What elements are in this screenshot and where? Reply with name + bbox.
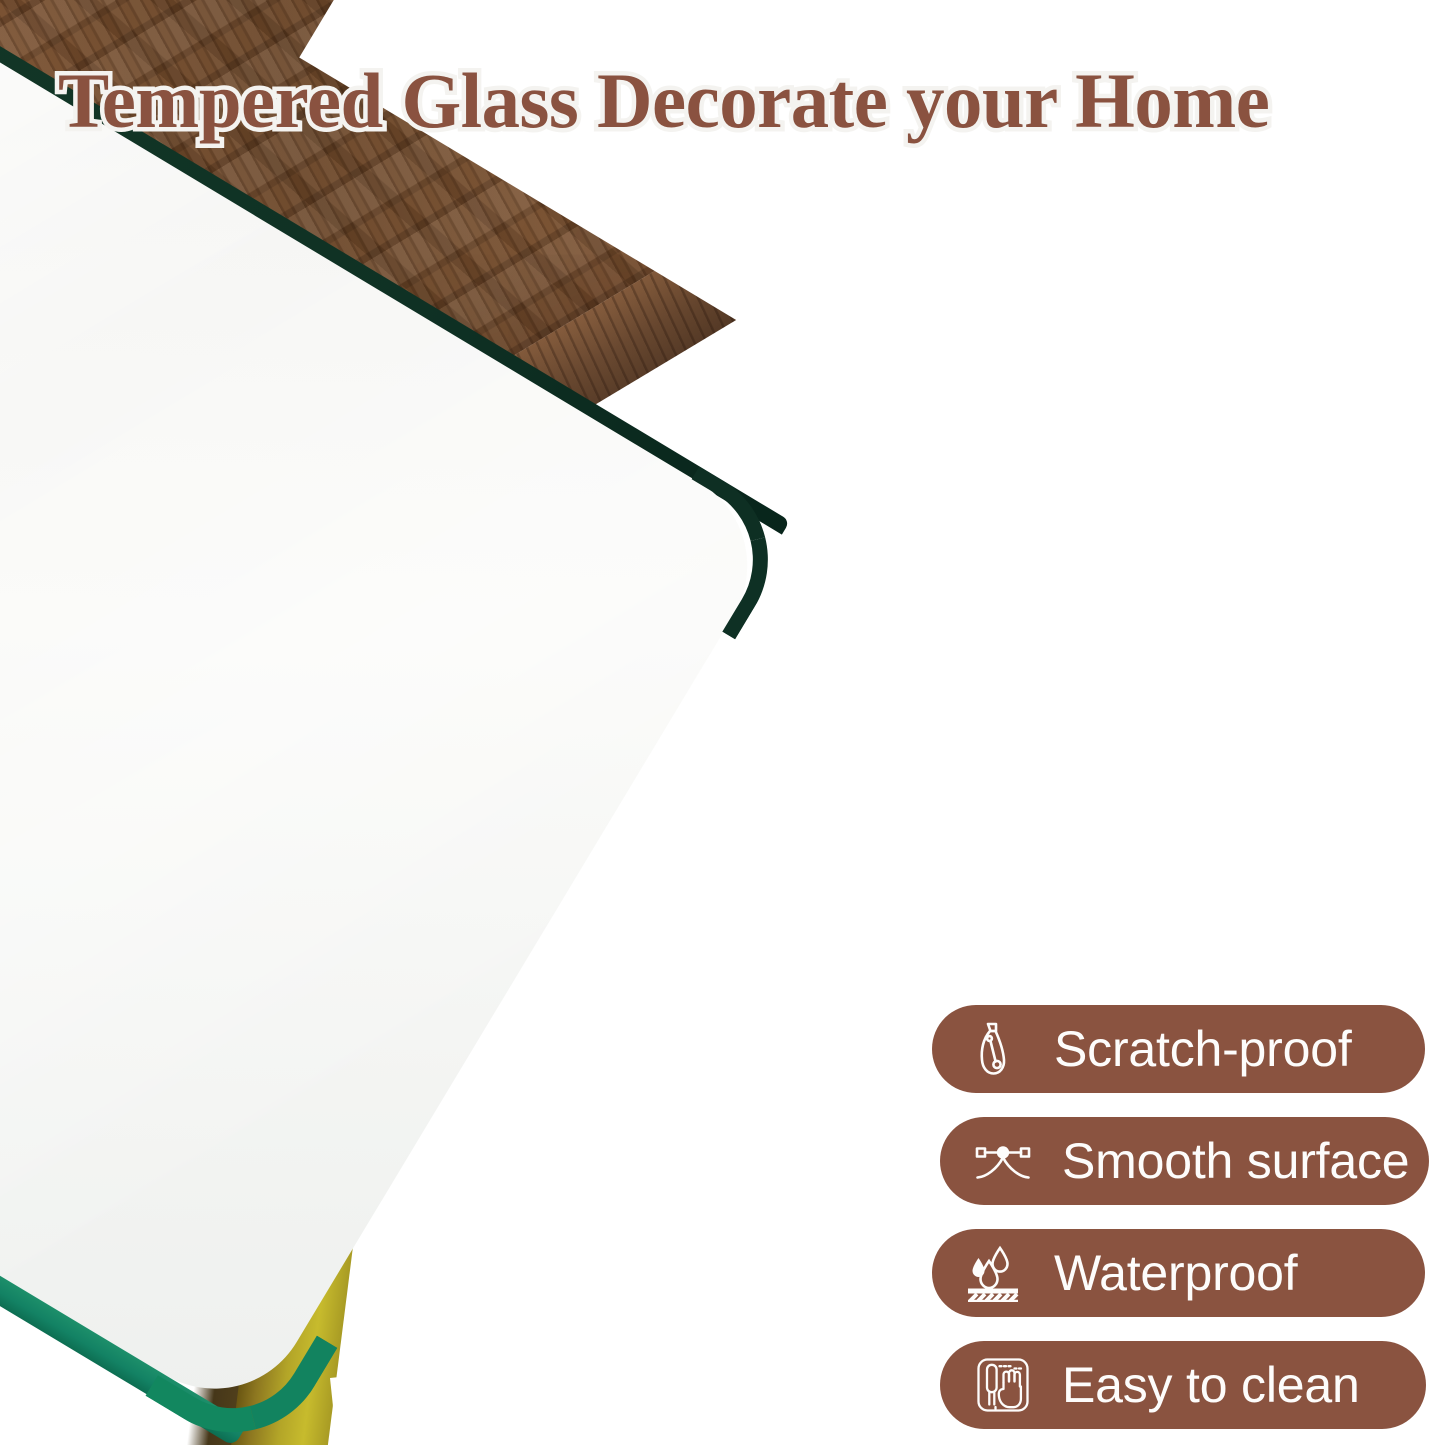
feature-badge-waterproof[interactable]: Waterproof <box>932 1229 1425 1317</box>
feature-badge-smooth-surface[interactable]: Smooth surface <box>940 1117 1429 1205</box>
feature-badge-label: Smooth surface <box>1062 1132 1409 1190</box>
page-title: Tempered Glass Decorate your Home <box>58 62 1378 140</box>
product-feature-image: Tempered Glass Decorate your Home Scratc… <box>0 0 1445 1445</box>
feature-badge-easy-to-clean[interactable]: Easy to clean <box>940 1341 1426 1429</box>
feature-badge-label: Easy to clean <box>1062 1356 1360 1414</box>
feature-badge-scratch-proof[interactable]: Scratch-proof <box>932 1005 1425 1093</box>
feature-badge-label: Scratch-proof <box>1054 1020 1352 1078</box>
water-droplets-icon <box>962 1242 1028 1304</box>
bezier-curve-icon <box>970 1130 1036 1192</box>
hand-wiping-icon <box>970 1354 1036 1416</box>
utility-knife-icon <box>962 1018 1028 1080</box>
feature-badge-label: Waterproof <box>1054 1244 1297 1302</box>
